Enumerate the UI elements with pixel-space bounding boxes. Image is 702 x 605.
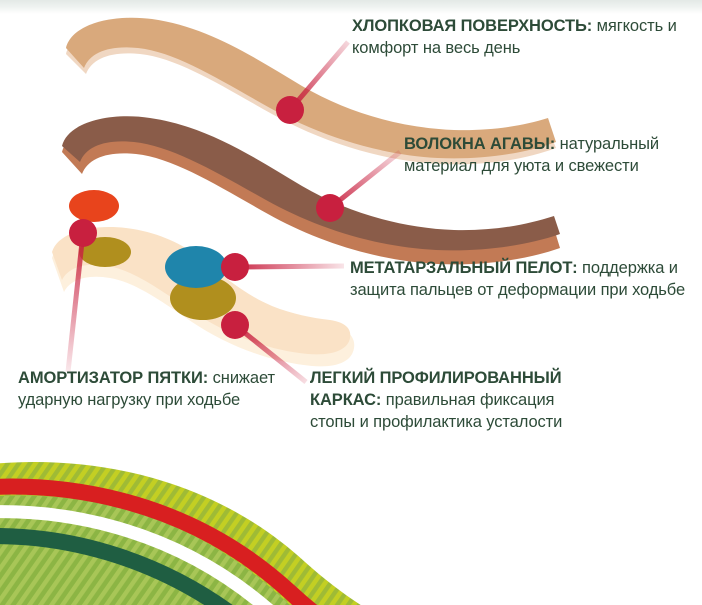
marker-frame-dot: [221, 311, 249, 339]
heel-olive-pad: [79, 237, 131, 267]
bottom-swoosh-decoration: [0, 462, 480, 605]
marker-dots: [69, 96, 344, 339]
callout-cotton-heading: ХЛОПКОВАЯ ПОВЕРХНОСТЬ:: [352, 17, 592, 35]
insole-infographic: ХЛОПКОВАЯ ПОВЕРХНОСТЬ: мягкость и комфор…: [0, 0, 702, 605]
connector-cotton: [290, 42, 348, 110]
top-gradient-strip: [0, 0, 702, 14]
callout-heel-shock-absorber: АМОРТИЗАТОР ПЯТКИ: снижает ударную нагру…: [18, 368, 298, 412]
arch-olive-pad: [170, 276, 236, 320]
metatarsal-pad: [165, 246, 227, 288]
insole-illustration: [0, 0, 702, 605]
marker-cotton-dot: [276, 96, 304, 124]
heel-shock-pad: [69, 190, 119, 222]
connector-metatarsal: [235, 266, 344, 267]
callout-metatarsal-heading: МЕТАТАРЗАЛЬНЫЙ ПЕЛОТ:: [350, 259, 578, 277]
connector-heel: [68, 233, 83, 372]
connector-lines: [68, 42, 400, 382]
marker-metatarsal-dot: [221, 253, 249, 281]
connector-agave: [330, 152, 400, 208]
pad-group: [69, 190, 236, 320]
callout-heel-heading: АМОРТИЗАТОР ПЯТКИ:: [18, 369, 208, 387]
frame-base-layer: [52, 227, 354, 366]
callout-agave-fiber: ВОЛОКНА АГАВЫ: натуральный материал для …: [404, 134, 694, 178]
callout-profiled-frame: ЛЕГКИЙ ПРОФИЛИРОВАННЫЙ КАРКАС: правильна…: [310, 368, 600, 434]
marker-agave-dot: [316, 194, 344, 222]
marker-heel-dot: [69, 219, 97, 247]
callout-metatarsal-pad: МЕТАТАРЗАЛЬНЫЙ ПЕЛОТ: поддержка и защита…: [350, 258, 698, 302]
callout-cotton-surface: ХЛОПКОВАЯ ПОВЕРХНОСТЬ: мягкость и комфор…: [352, 16, 682, 60]
callout-agave-heading: ВОЛОКНА АГАВЫ:: [404, 135, 555, 153]
